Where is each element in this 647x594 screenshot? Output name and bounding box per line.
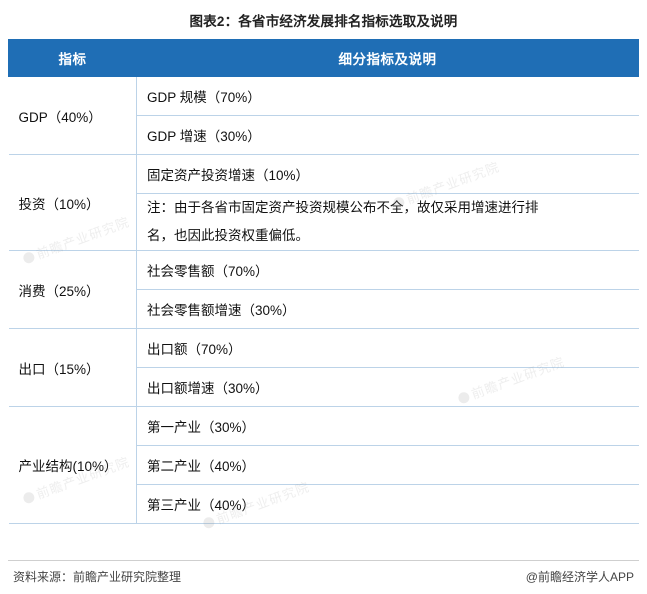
category-cell: 产业结构(10%） — [9, 407, 137, 524]
table-row: 投资（10%） 固定资产投资增速（10%） — [9, 155, 639, 194]
column-header-description: 细分指标及说明 — [137, 40, 639, 77]
subindicator-cell: 固定资产投资增速（10%） — [137, 155, 639, 194]
subindicator-cell: 第一产业（30%） — [137, 407, 639, 446]
subindicator-cell: 出口额增速（30%） — [137, 368, 639, 407]
indicator-table: 指标 细分指标及说明 GDP（40%） GDP 规模（70%） GDP 增速（3… — [8, 39, 639, 524]
subindicator-cell: GDP 增速（30%） — [137, 116, 639, 155]
footer: 资料来源：前瞻产业研究院整理 @前瞻经济学人APP — [8, 560, 639, 586]
subindicator-cell: GDP 规模（70%） — [137, 77, 639, 116]
subindicator-cell: 第二产业（40%） — [137, 446, 639, 485]
document-page: 图表2：各省市经济发展排名指标选取及说明 指标 细分指标及说明 GDP（40%）… — [0, 0, 647, 594]
category-cell: 出口（15%） — [9, 329, 137, 407]
subindicator-cell: 第三产业（40%） — [137, 485, 639, 524]
subindicator-cell: 出口额（70%） — [137, 329, 639, 368]
table-row: GDP（40%） GDP 规模（70%） — [9, 77, 639, 116]
column-header-indicator: 指标 — [9, 40, 137, 77]
note-line: 注：由于各省市固定资产投资规模公布不全，故仅采用增速进行排 — [147, 194, 629, 222]
category-cell: 消费（25%） — [9, 251, 137, 329]
table-body: GDP（40%） GDP 规模（70%） GDP 增速（30%） 投资（10%）… — [9, 77, 639, 524]
table-row: 产业结构(10%） 第一产业（30%） — [9, 407, 639, 446]
table-row: 出口（15%） 出口额（70%） — [9, 329, 639, 368]
category-cell: GDP（40%） — [9, 77, 137, 155]
table-header-row: 指标 细分指标及说明 — [9, 40, 639, 77]
subindicator-cell: 社会零售额增速（30%） — [137, 290, 639, 329]
page-title: 图表2：各省市经济发展排名指标选取及说明 — [8, 0, 639, 39]
source-text: 资料来源：前瞻产业研究院整理 — [8, 568, 181, 585]
note-line: 名，也因此投资权重偏低。 — [147, 222, 629, 250]
table-row: 消费（25%） 社会零售额（70%） — [9, 251, 639, 290]
subindicator-cell: 社会零售额（70%） — [137, 251, 639, 290]
category-cell: 投资（10%） — [9, 155, 137, 251]
note-cell: 注：由于各省市固定资产投资规模公布不全，故仅采用增速进行排 名，也因此投资权重偏… — [137, 194, 639, 251]
brand-text: @前瞻经济学人APP — [526, 568, 639, 585]
table-head: 指标 细分指标及说明 — [9, 40, 639, 77]
